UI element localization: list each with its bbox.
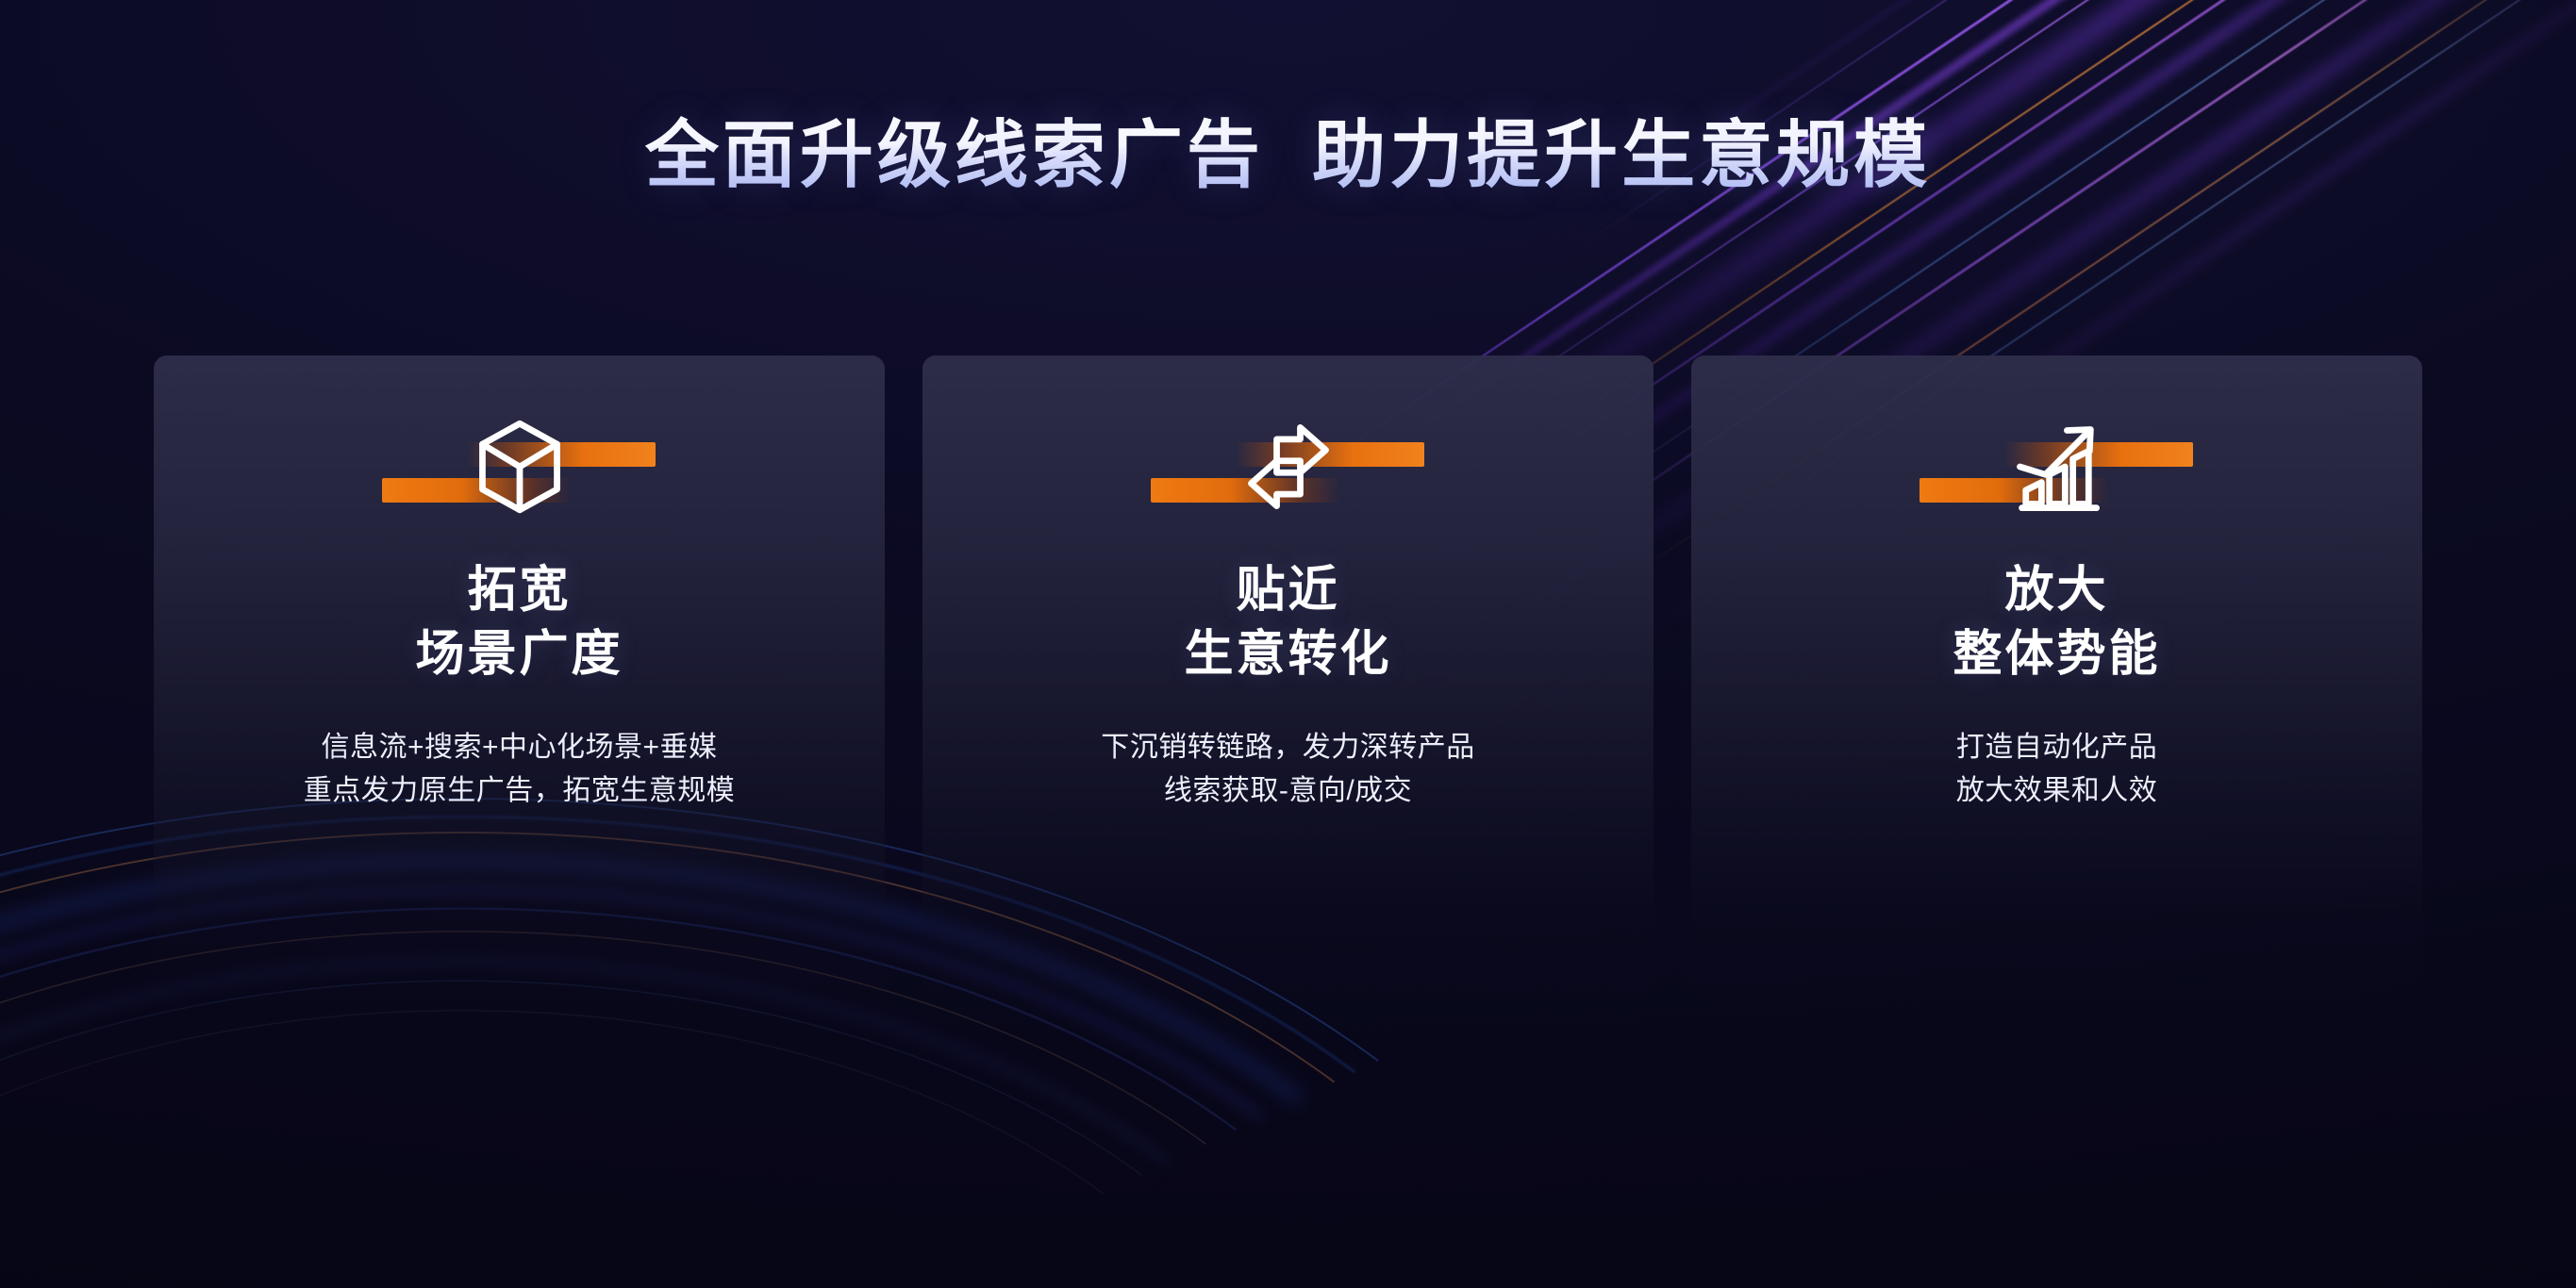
card-heading: 拓宽 场景广度 [415,559,623,686]
growth-bar-chart-icon [2008,418,2106,516]
arc [0,957,1376,1288]
icon-area [1138,406,1439,527]
card-body: 信息流+搜索+中心化场景+垂媒 重点发力原生广告，拓宽生意规模 [304,726,736,812]
feature-card-conversion[interactable]: 贴近 生意转化 下沉销转链路，发力深转产品 线索获取-意向/成交 [922,355,1654,1006]
icon-area [369,406,671,527]
page-title: 全面升级线索广告 助力提升生意规模 [0,111,2576,198]
page-title-text: 全面升级线索广告 助力提升生意规模 [645,111,1931,198]
card-body: 打造自动化产品 放大效果和人效 [1956,726,2158,812]
exchange-arrows-icon [1239,418,1338,516]
feature-card-row: 拓宽 场景广度 信息流+搜索+中心化场景+垂媒 重点发力原生广告，拓宽生意规模 … [154,355,2422,1006]
feature-card-broaden[interactable]: 拓宽 场景广度 信息流+搜索+中心化场景+垂媒 重点发力原生广告，拓宽生意规模 [154,355,885,1006]
card-heading: 贴近 生意转化 [1184,559,1391,686]
icon-area [1906,406,2208,527]
feature-card-amplify[interactable]: 放大 整体势能 打造自动化产品 放大效果和人效 [1691,355,2422,1006]
arc [0,981,1338,1288]
card-body: 下沉销转链路，发力深转产品 线索获取-意向/成交 [1101,726,1475,812]
slide-canvas: 全面升级线索广告 助力提升生意规模 拓宽 场景广度 信息流+搜索+中心化场景+垂… [0,0,2576,1288]
card-heading: 放大 整体势能 [1953,559,2160,686]
arc [0,1010,1288,1288]
cube-3d-icon [471,418,569,516]
